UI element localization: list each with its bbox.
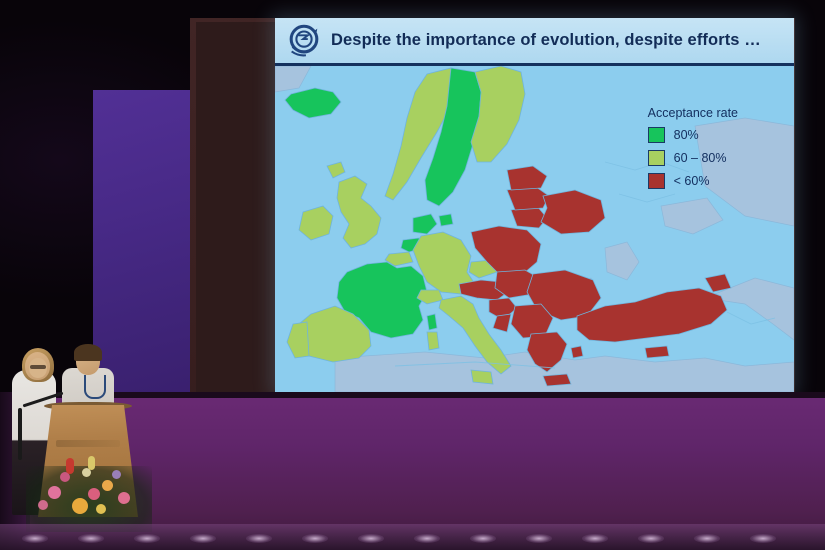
- legend-label-mid: 60 – 80%: [674, 151, 727, 165]
- legend-item-high: 80%: [648, 127, 738, 143]
- legend-label-low: < 60%: [674, 174, 710, 188]
- flower-yellow-spike: [88, 456, 95, 470]
- flower-red-spike: [66, 458, 74, 474]
- speaker-right-hair: [74, 344, 102, 361]
- island-cyprus: [645, 346, 669, 358]
- slide-body: Acceptance rate 80% 60 – 80% < 60%: [275, 66, 794, 392]
- greek-islands: [571, 346, 583, 358]
- stage-wall-edge: [0, 392, 825, 398]
- presentation-slide: Despite the importance of evolution, des…: [275, 18, 794, 392]
- podium-engraving: [56, 440, 120, 447]
- legend-swatch-high: [648, 127, 665, 143]
- flower-purple-1: [112, 470, 121, 479]
- stage-floor-lights: [0, 520, 825, 550]
- speaker-right-lanyard: [84, 375, 106, 399]
- country-denmark-islands: [439, 214, 453, 226]
- slide-title-bar: Despite the importance of evolution, des…: [275, 18, 794, 66]
- screenshot-stage: Despite the importance of evolution, des…: [0, 0, 825, 550]
- legend-item-low: < 60%: [648, 173, 738, 189]
- island-sardinia: [427, 332, 439, 350]
- island-corsica: [427, 314, 437, 330]
- legend-swatch-mid: [648, 150, 665, 166]
- legend-label-high: 80%: [674, 128, 699, 142]
- legend-title: Acceptance rate: [648, 106, 738, 120]
- island-sicily: [471, 370, 493, 384]
- microphone-stand: [18, 408, 22, 460]
- island-crete: [543, 374, 571, 386]
- slide-title: Despite the importance of evolution, des…: [331, 31, 761, 50]
- circular-society-emblem-icon: [285, 22, 323, 60]
- legend-swatch-low: [648, 173, 665, 189]
- legend-item-mid: 60 – 80%: [648, 150, 738, 166]
- speaker-left-glasses: [30, 365, 46, 369]
- map-legend: Acceptance rate 80% 60 – 80% < 60%: [648, 106, 738, 196]
